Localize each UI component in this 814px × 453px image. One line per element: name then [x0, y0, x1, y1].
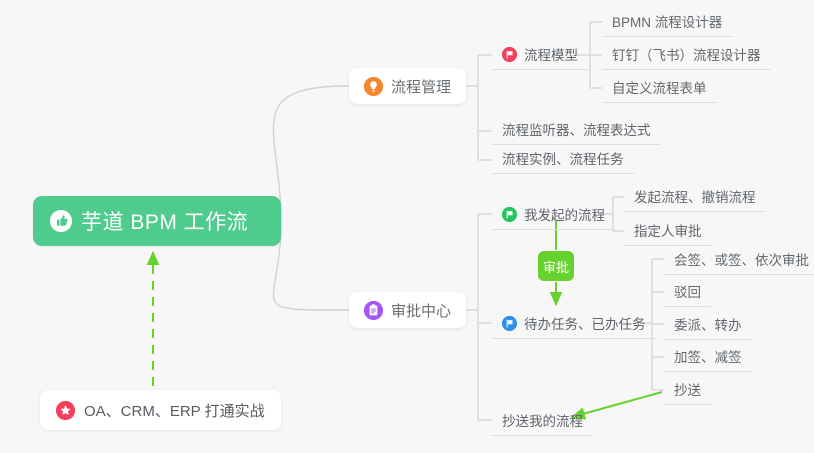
connector-root-to-approval-center [273, 221, 349, 310]
mindmap-canvas: 芋道 BPM 工作流 流程管理 流程模型 流程监听器、流程表达式 流程实例、流程… [0, 0, 814, 453]
annotation-tag-label: 审批 [543, 257, 569, 276]
node-label: 流程模型 [524, 44, 578, 64]
node-process-model[interactable]: 流程模型 [492, 41, 588, 70]
branch-label: 审批中心 [391, 300, 451, 321]
node-delegate[interactable]: 委派、转办 [664, 311, 752, 340]
branch-label: 流程管理 [391, 76, 451, 97]
connector-root-to-process-management [273, 86, 349, 221]
node-dingtalk-designer[interactable]: 钉钉（飞书）流程设计器 [602, 41, 771, 70]
node-cc-to-me[interactable]: 抄送我的流程 [492, 407, 593, 436]
root-node[interactable]: 芋道 BPM 工作流 [33, 196, 281, 246]
node-cc[interactable]: 抄送 [664, 376, 711, 405]
node-add-remove-sign[interactable]: 加签、减签 [664, 343, 752, 372]
branch-process-management[interactable]: 流程管理 [349, 68, 466, 104]
annotation-tag-approve: 审批 [538, 251, 574, 281]
note-card-integration[interactable]: OA、CRM、ERP 打通实战 [40, 390, 281, 430]
star-icon [56, 401, 75, 420]
node-label: 我发起的流程 [524, 204, 605, 224]
flag-icon [502, 316, 517, 331]
lightbulb-icon [364, 77, 383, 96]
node-bpmn-designer[interactable]: BPMN 流程设计器 [602, 8, 732, 37]
clipboard-icon [364, 301, 383, 320]
node-start-cancel-process[interactable]: 发起流程、撤销流程 [624, 183, 766, 212]
node-custom-form[interactable]: 自定义流程表单 [602, 74, 717, 103]
node-my-started-processes[interactable]: 我发起的流程 [492, 201, 615, 230]
node-process-instance[interactable]: 流程实例、流程任务 [492, 145, 634, 174]
node-label: 待办任务、已办任务 [524, 313, 646, 333]
node-process-listener[interactable]: 流程监听器、流程表达式 [492, 116, 661, 145]
root-node-label: 芋道 BPM 工作流 [81, 206, 248, 236]
flag-icon [502, 207, 517, 222]
thumbs-up-icon [50, 210, 72, 232]
node-reject[interactable]: 驳回 [664, 278, 711, 307]
flag-icon [502, 47, 517, 62]
branch-approval-center[interactable]: 审批中心 [349, 292, 466, 328]
note-card-label: OA、CRM、ERP 打通实战 [84, 400, 265, 421]
node-todo-done-tasks[interactable]: 待办任务、已办任务 [492, 310, 656, 339]
node-assignee-approval[interactable]: 指定人审批 [624, 217, 712, 246]
node-countersign[interactable]: 会签、或签、依次审批 [664, 246, 814, 275]
